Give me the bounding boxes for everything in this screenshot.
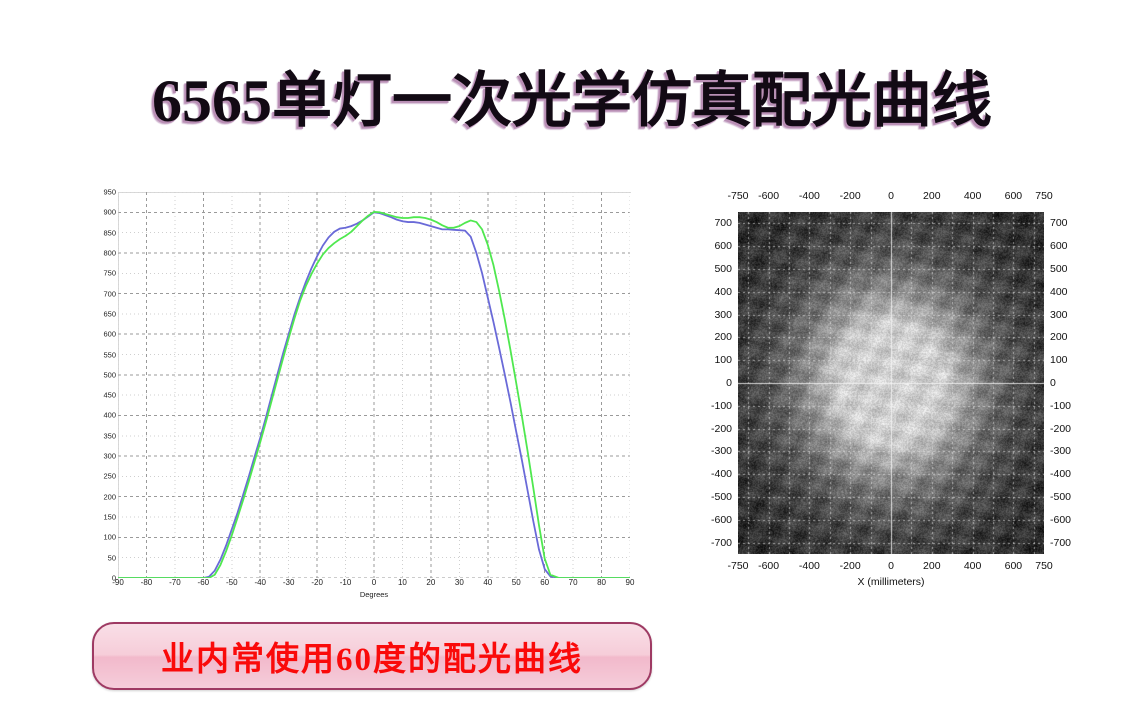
left-plot-x-tick: -70	[169, 578, 181, 587]
illuminance-map-left-tick: 700	[714, 217, 732, 229]
left-plot-y-tick: 450	[80, 391, 116, 400]
left-plot-y-tick: 200	[80, 492, 116, 501]
illuminance-map-image	[738, 212, 1044, 554]
left-plot-x-tick: 60	[540, 578, 549, 587]
left-plot-canvas	[118, 192, 630, 578]
left-plot-x-tick: 70	[569, 578, 578, 587]
illuminance-map-top-tick: 600	[1005, 190, 1023, 202]
illuminance-map-top-tick: 200	[923, 190, 941, 202]
callout-text: 业内常使用60度的配光曲线	[161, 632, 583, 680]
left-plot-x-tick: -50	[226, 578, 238, 587]
illuminance-map-bottom-tick: 200	[923, 560, 941, 572]
left-plot-y-axis: 0501001502002503003504004505005506006507…	[78, 192, 116, 578]
illuminance-map-left-tick: 500	[714, 263, 732, 275]
illuminance-map-bottom-tick: 600	[1005, 560, 1023, 572]
left-plot-y-tick: 300	[80, 452, 116, 461]
illuminance-map-x-axis-label: X (millimeters)	[738, 576, 1044, 588]
illuminance-map-left-tick: 400	[714, 286, 732, 298]
illuminance-map-left-tick: -300	[711, 445, 732, 457]
illuminance-map-bottom-tick: -600	[758, 560, 779, 572]
left-plot-x-tick: -10	[340, 578, 352, 587]
illuminance-map-left-tick: -100	[711, 400, 732, 412]
left-plot-y-tick: 750	[80, 269, 116, 278]
illuminance-map-top-axis: -750-600-400-2000200400600750	[738, 190, 1044, 204]
illuminance-map-right-tick: -400	[1050, 468, 1071, 480]
illuminance-map-left-axis: 7006005004003002001000-100-200-300-400-5…	[690, 212, 734, 554]
left-plot-y-tick: 800	[80, 248, 116, 257]
left-plot-x-tick: 0	[372, 578, 376, 587]
left-plot-x-tick: -60	[198, 578, 210, 587]
illuminance-map-bottom-tick: -200	[840, 560, 861, 572]
left-plot-x-tick: -90	[112, 578, 124, 587]
left-plot-y-tick: 950	[80, 188, 116, 197]
illuminance-map-top-tick: 400	[964, 190, 982, 202]
illuminance-map-right-tick: 600	[1050, 240, 1068, 252]
illuminance-map-right-tick: 700	[1050, 217, 1068, 229]
illuminance-map-bottom-tick: -750	[727, 560, 748, 572]
illuminance-map-right-tick: -200	[1050, 423, 1071, 435]
illuminance-map-left-tick: 600	[714, 240, 732, 252]
illuminance-map-right-tick: 0	[1050, 377, 1056, 389]
illuminance-map-left-tick: -700	[711, 537, 732, 549]
left-plot-y-tick: 650	[80, 309, 116, 318]
left-plot-y-tick: 50	[80, 553, 116, 562]
illuminance-map-right-tick: -600	[1050, 514, 1071, 526]
left-plot-x-tick: -20	[311, 578, 323, 587]
illuminance-map-bottom-axis: -750-600-400-2000200400600750	[738, 560, 1044, 574]
illuminance-map-top-tick: -600	[758, 190, 779, 202]
illuminance-map-top-tick: -750	[727, 190, 748, 202]
illuminance-map-left-tick: 200	[714, 331, 732, 343]
illuminance-map-left-tick: 100	[714, 354, 732, 366]
left-plot-x-tick: 80	[597, 578, 606, 587]
illuminance-map-left-tick: -500	[711, 491, 732, 503]
illuminance-map-left-tick: 300	[714, 309, 732, 321]
left-plot-x-tick: -40	[254, 578, 266, 587]
illuminance-map-right-tick: 400	[1050, 286, 1068, 298]
callout-box: 业内常使用60度的配光曲线	[92, 622, 652, 690]
left-plot-y-tick: 100	[80, 533, 116, 542]
illuminance-map-chart: -750-600-400-2000200400600750 7006005004…	[690, 190, 1090, 605]
illuminance-map-right-tick: -700	[1050, 537, 1071, 549]
left-plot-x-tick: 40	[483, 578, 492, 587]
left-plot-x-tick: 10	[398, 578, 407, 587]
page-title: 6565单灯一次光学仿真配光曲线	[0, 52, 1144, 139]
illuminance-map-right-tick: 200	[1050, 331, 1068, 343]
illuminance-map-right-tick: 100	[1050, 354, 1068, 366]
illuminance-map-right-axis: 7006005004003002001000-100-200-300-400-5…	[1048, 212, 1092, 554]
left-plot-y-tick: 850	[80, 228, 116, 237]
slide-root: 6565单灯一次光学仿真配光曲线 05010015020025030035040…	[0, 0, 1144, 717]
illuminance-map-bottom-tick: 750	[1035, 560, 1053, 572]
intensity-distribution-chart: 0501001502002503003504004505005506006507…	[78, 186, 648, 606]
left-plot-x-tick: -30	[283, 578, 295, 587]
left-plot-y-tick: 250	[80, 472, 116, 481]
left-plot-x-tick: 90	[626, 578, 635, 587]
illuminance-map-right-tick: -100	[1050, 400, 1071, 412]
left-plot-x-tick: -80	[141, 578, 153, 587]
left-plot-x-axis-label: Degrees	[118, 590, 630, 599]
left-plot-y-tick: 350	[80, 431, 116, 440]
illuminance-map-right-tick: -300	[1050, 445, 1071, 457]
illuminance-map-top-tick: -200	[840, 190, 861, 202]
illuminance-map-bottom-tick: -400	[799, 560, 820, 572]
left-plot-y-tick: 600	[80, 330, 116, 339]
illuminance-map-left-tick: -400	[711, 468, 732, 480]
left-plot-x-tick: 20	[426, 578, 435, 587]
illuminance-map-right-tick: 500	[1050, 263, 1068, 275]
illuminance-map-bottom-tick: 400	[964, 560, 982, 572]
illuminance-map-left-tick: -200	[711, 423, 732, 435]
left-plot-y-tick: 700	[80, 289, 116, 298]
left-plot-x-tick: 50	[512, 578, 521, 587]
illuminance-map-left-tick: -600	[711, 514, 732, 526]
left-plot-y-tick: 150	[80, 513, 116, 522]
illuminance-map-bottom-tick: 0	[888, 560, 894, 572]
left-plot-y-tick: 0	[80, 574, 116, 583]
left-plot-x-tick: 30	[455, 578, 464, 587]
left-plot-y-tick: 500	[80, 370, 116, 379]
illuminance-map-right-tick: -500	[1050, 491, 1071, 503]
left-plot-y-tick: 400	[80, 411, 116, 420]
illuminance-map-top-tick: 750	[1035, 190, 1053, 202]
illuminance-map-top-tick: 0	[888, 190, 894, 202]
illuminance-map-right-tick: 300	[1050, 309, 1068, 321]
illuminance-map-top-tick: -400	[799, 190, 820, 202]
left-plot-y-tick: 900	[80, 208, 116, 217]
left-plot-y-tick: 550	[80, 350, 116, 359]
illuminance-map-left-tick: 0	[726, 377, 732, 389]
